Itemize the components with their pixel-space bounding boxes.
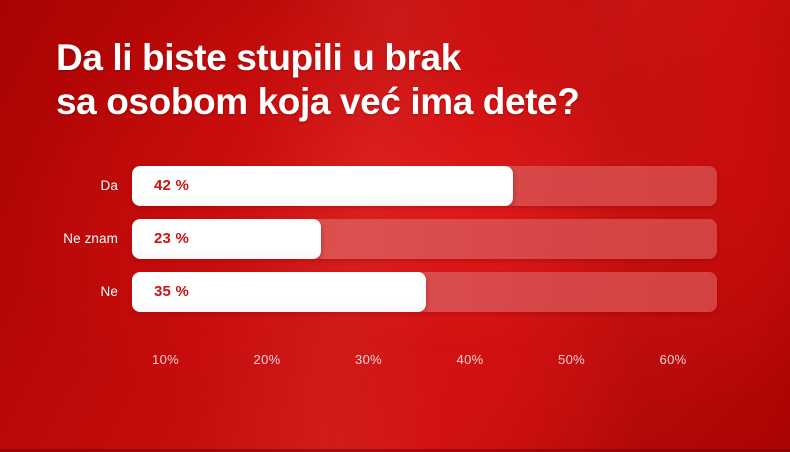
bar-category-label-da: Da — [0, 166, 118, 206]
axis-tick-40: 40% — [457, 348, 484, 372]
bar-row: Ne 35 % — [0, 272, 790, 312]
axis-tick-10: 10% — [152, 348, 179, 372]
x-axis: 10% 20% 30% 40% 50% 60% — [0, 348, 790, 372]
axis-tick-50: 50% — [558, 348, 585, 372]
poll-infographic-card: Da li biste stupili u brak sa osobom koj… — [0, 0, 790, 452]
axis-tick-20: 20% — [254, 348, 281, 372]
title-line-2: sa osobom koja već ima dete? — [56, 80, 579, 124]
bar-row: Da 42 % — [0, 166, 790, 206]
bar-chart: Da 42 % Ne znam 23 % Ne 35 % — [0, 166, 790, 325]
bar-track-ne: 35 % — [132, 272, 717, 312]
axis-tick-30: 30% — [355, 348, 382, 372]
bar-value-label-da: 42 % — [154, 166, 189, 206]
bar-value-label-ne-znam: 23 % — [154, 219, 189, 259]
bar-value-label-ne: 35 % — [154, 272, 189, 312]
bar-fill-da — [132, 166, 513, 206]
axis-tick-60: 60% — [660, 348, 687, 372]
bar-category-label-ne: Ne — [0, 272, 118, 312]
bar-category-label-ne-znam: Ne znam — [0, 219, 118, 259]
bar-track-ne-znam: 23 % — [132, 219, 717, 259]
bar-row: Ne znam 23 % — [0, 219, 790, 259]
page-title: Da li biste stupili u brak sa osobom koj… — [56, 36, 579, 124]
bar-track-da: 42 % — [132, 166, 717, 206]
title-line-1: Da li biste stupili u brak — [56, 36, 579, 80]
